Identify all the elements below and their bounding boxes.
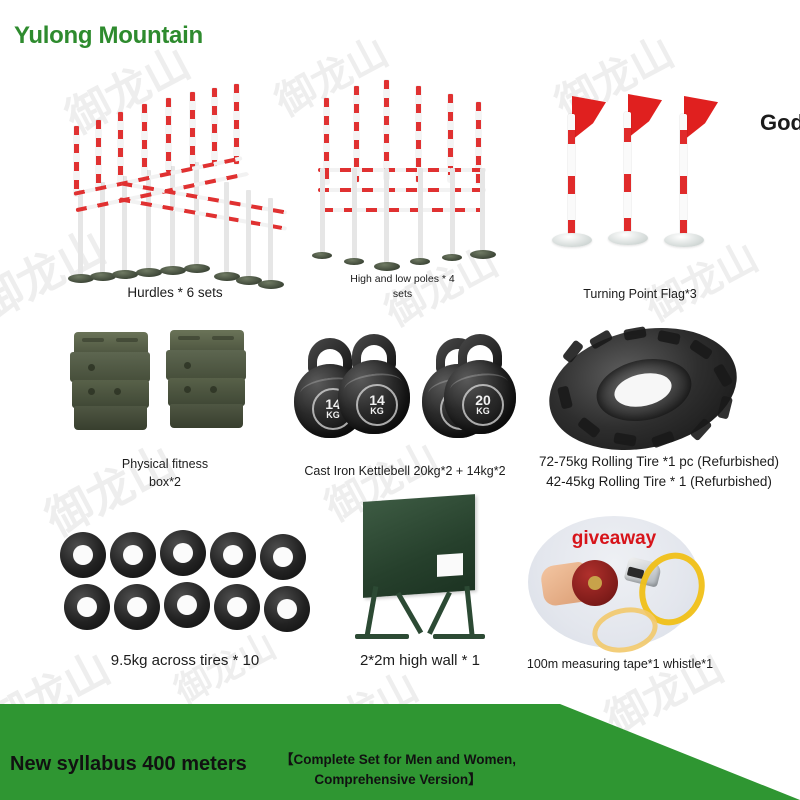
product-poster: 御龙山 御龙山 御龙山 御龙山 御龙山 御龙山 御龙山 御龙山 御龙山 御龙山 … bbox=[0, 0, 800, 800]
flag-pole bbox=[568, 114, 575, 238]
turning-point-flags-illustration bbox=[548, 88, 728, 260]
tire-item bbox=[64, 584, 110, 630]
giveaway-illustration: giveaway bbox=[528, 516, 700, 648]
banner-right-text: 【Complete Set for Men and Women, Compreh… bbox=[238, 750, 558, 791]
fitness-box-caption-line2: box*2 bbox=[149, 475, 181, 489]
flag-cloth bbox=[572, 96, 606, 140]
tire-item bbox=[110, 532, 156, 578]
hurdles-illustration bbox=[60, 78, 290, 258]
high-wall-illustration bbox=[345, 498, 495, 643]
kettlebell-weight-unit: KG bbox=[370, 407, 384, 416]
tire-item bbox=[114, 584, 160, 630]
kettlebell-weight-badge: 14 KG bbox=[356, 384, 398, 426]
turning-point-flag-caption: Turning Point Flag*3 bbox=[540, 285, 740, 303]
kettlebell-weight-value: 20 bbox=[475, 394, 491, 407]
high-low-poles-illustration bbox=[300, 72, 505, 262]
across-tires-caption: 9.5kg across tires * 10 bbox=[50, 650, 320, 672]
giveaway-caption: 100m measuring tape*1 whistle*1 bbox=[500, 655, 740, 673]
high-wall-caption: 2*2m high wall * 1 bbox=[320, 650, 520, 672]
measuring-tape-icon bbox=[572, 560, 618, 606]
high-low-poles-caption-line1: High and low poles * 4 bbox=[350, 273, 454, 285]
flag-cloth bbox=[628, 94, 662, 138]
tire-item bbox=[160, 530, 206, 576]
flag-cloth bbox=[684, 96, 718, 140]
kettlebell-weight-value: 14 bbox=[369, 394, 385, 407]
corner-text: God bbox=[760, 110, 800, 136]
kettlebell-caption: Cast Iron Kettlebell 20kg*2 + 14kg*2 bbox=[280, 462, 530, 480]
tire-item bbox=[164, 582, 210, 628]
fitness-box-caption-line1: Physical fitness bbox=[122, 457, 208, 471]
high-low-poles-caption: High and low poles * 4 sets bbox=[300, 272, 505, 302]
kettlebell-illustration: 14 KG 14 KG 20 KG 20 KG bbox=[290, 334, 520, 444]
banner-right-line2: Version】 bbox=[419, 772, 481, 787]
hurdles-caption: Hurdles * 6 sets bbox=[60, 283, 290, 303]
flag-base bbox=[664, 233, 704, 247]
tire-item bbox=[260, 534, 306, 580]
rolling-tire-caption: 72-75kg Rolling Tire *1 pc (Refurbished)… bbox=[518, 452, 800, 491]
rolling-tire-illustration bbox=[548, 330, 738, 448]
flag-base bbox=[608, 231, 648, 245]
flag-pole bbox=[680, 114, 687, 238]
high-low-poles-caption-line2: sets bbox=[393, 288, 412, 300]
rolling-tire-caption-line1: 72-75kg Rolling Tire *1 pc (Refurbished) bbox=[539, 454, 779, 469]
tire-item bbox=[60, 532, 106, 578]
across-tires-illustration bbox=[60, 528, 310, 636]
tire-item bbox=[214, 584, 260, 630]
banner-left-text: New syllabus 400 meters bbox=[10, 753, 247, 776]
kettlebell-weight-badge: 20 KG bbox=[462, 384, 504, 426]
kettlebell-weight-unit: KG bbox=[476, 407, 490, 416]
tire-item bbox=[210, 532, 256, 578]
flag-pole bbox=[624, 112, 631, 236]
physical-fitness-box-illustration bbox=[70, 330, 260, 440]
tire-item bbox=[264, 586, 310, 632]
giveaway-badge: giveaway bbox=[528, 528, 700, 550]
rolling-tire-caption-line2: 42-45kg Rolling Tire * 1 (Refurbished) bbox=[546, 474, 772, 489]
page-title: Yulong Mountain bbox=[14, 22, 203, 50]
flag-base bbox=[552, 233, 592, 247]
physical-fitness-box-caption: Physical fitness box*2 bbox=[70, 455, 260, 491]
